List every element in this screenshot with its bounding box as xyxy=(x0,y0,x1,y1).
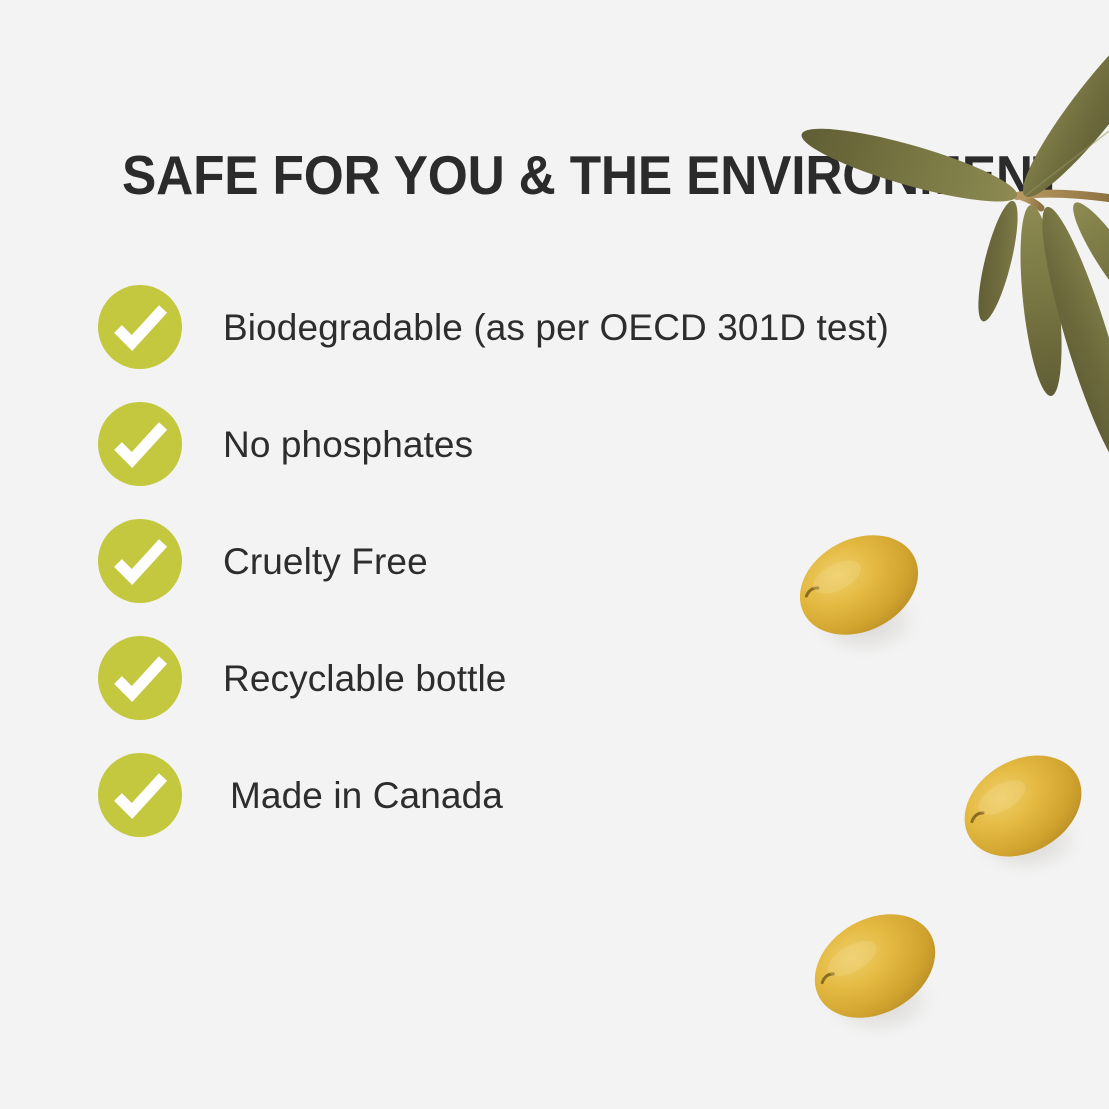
check-circle-icon xyxy=(98,285,182,369)
list-item: Biodegradable (as per OECD 301D test) xyxy=(98,285,998,369)
list-item: Made in Canada xyxy=(98,753,998,837)
benefit-label: Biodegradable (as per OECD 301D test) xyxy=(223,309,889,346)
check-circle-icon xyxy=(98,402,182,486)
benefit-label: Cruelty Free xyxy=(223,543,428,580)
check-circle-icon xyxy=(98,753,182,837)
infographic-panel: SAFE FOR YOU & THE ENVIRONMENT Biodegrad… xyxy=(0,0,1109,1109)
benefit-list: Biodegradable (as per OECD 301D test) No… xyxy=(98,285,998,870)
benefit-label: Recyclable bottle xyxy=(223,660,506,697)
list-item: Recyclable bottle xyxy=(98,636,998,720)
benefit-label: Made in Canada xyxy=(230,777,503,814)
check-circle-icon xyxy=(98,519,182,603)
list-item: No phosphates xyxy=(98,402,998,486)
page-title: SAFE FOR YOU & THE ENVIRONMENT xyxy=(122,147,964,205)
list-item: Cruelty Free xyxy=(98,519,998,603)
benefit-label: No phosphates xyxy=(223,426,473,463)
check-circle-icon xyxy=(98,636,182,720)
